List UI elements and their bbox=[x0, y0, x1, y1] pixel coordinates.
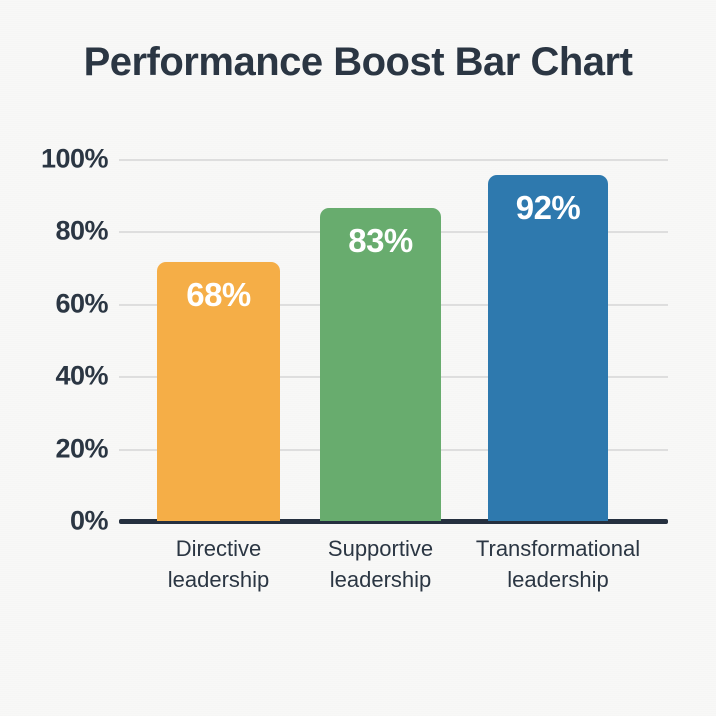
bar-group-directive: 68% bbox=[157, 159, 280, 521]
y-axis: 100% 80% 60% 40% 20% 0% bbox=[0, 159, 108, 521]
bar-chart-figure: Performance Boost Bar Chart 100% 80% 60%… bbox=[0, 0, 716, 716]
bar-transformational[interactable]: 92% bbox=[488, 175, 608, 521]
y-tick-label-20: 20% bbox=[8, 433, 108, 464]
bar-group-transformational: 92% bbox=[488, 159, 608, 521]
category-label-supportive-line1: Supportive bbox=[308, 534, 453, 565]
plot-area: 68% 83% 92% bbox=[119, 159, 668, 521]
category-label-transformational-line1: Transformational bbox=[456, 534, 660, 565]
y-tick-label-0: 0% bbox=[8, 506, 108, 537]
bar-value-transformational: 92% bbox=[488, 189, 608, 227]
y-tick-label-40: 40% bbox=[8, 361, 108, 392]
category-label-supportive-line2: leadership bbox=[308, 565, 453, 596]
y-tick-label-80: 80% bbox=[8, 216, 108, 247]
bar-group-supportive: 83% bbox=[320, 159, 441, 521]
y-tick-label-100: 100% bbox=[8, 144, 108, 175]
category-label-transformational: Transformational leadership bbox=[456, 534, 660, 596]
category-label-directive: Directive leadership bbox=[147, 534, 290, 596]
category-label-supportive: Supportive leadership bbox=[308, 534, 453, 596]
category-label-directive-line2: leadership bbox=[147, 565, 290, 596]
bar-value-directive: 68% bbox=[157, 276, 280, 314]
chart-title: Performance Boost Bar Chart bbox=[0, 40, 716, 84]
category-label-directive-line1: Directive bbox=[147, 534, 290, 565]
y-tick-label-60: 60% bbox=[8, 288, 108, 319]
bar-supportive[interactable]: 83% bbox=[320, 208, 441, 521]
bar-directive[interactable]: 68% bbox=[157, 262, 280, 521]
bar-value-supportive: 83% bbox=[320, 222, 441, 260]
category-label-transformational-line2: leadership bbox=[456, 565, 660, 596]
